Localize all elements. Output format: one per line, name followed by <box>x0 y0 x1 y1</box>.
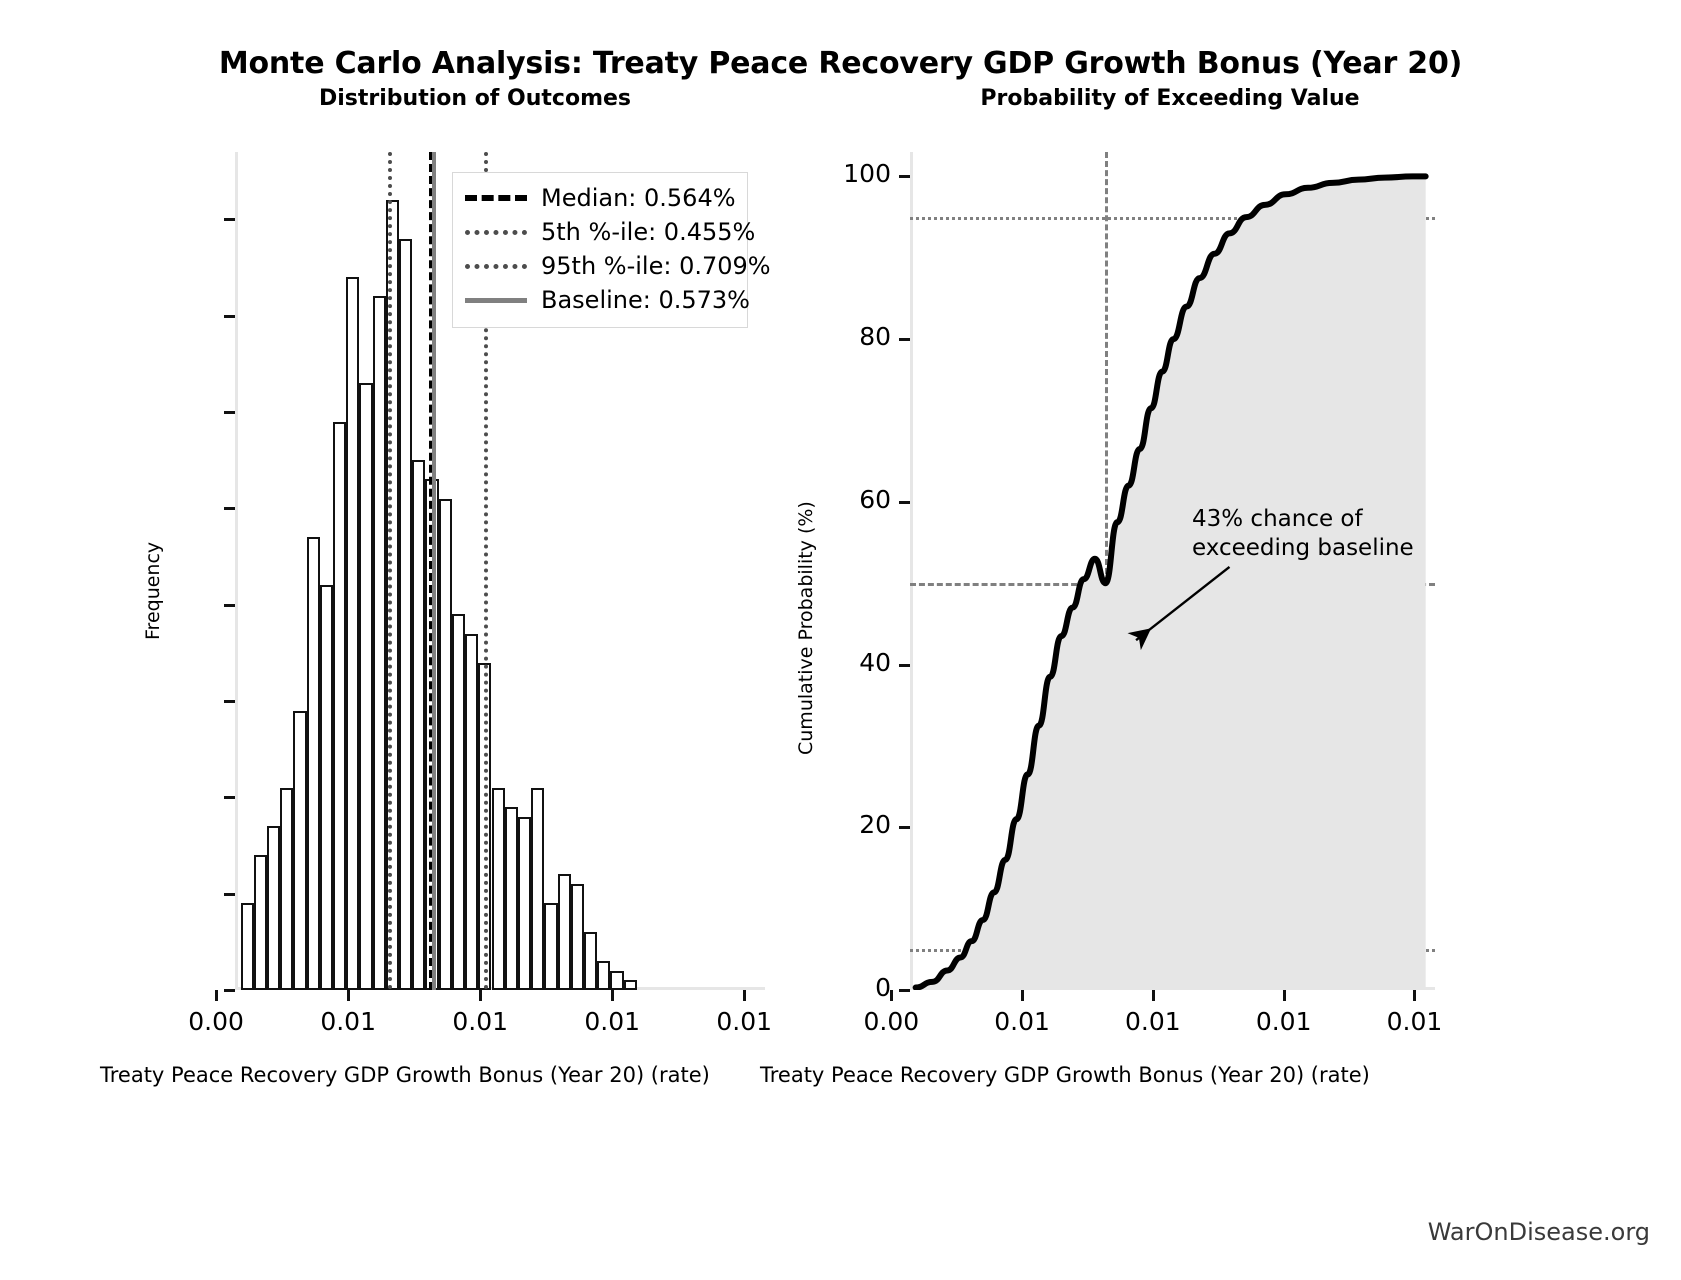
histogram-bar <box>558 874 571 990</box>
annotation-arrow-icon <box>910 152 1435 990</box>
legend-item-baseline[interactable]: Baseline: 0.573% <box>465 283 733 317</box>
histogram-y-axis-label: Frequency <box>142 542 164 640</box>
cdf-x-tick <box>1152 990 1155 1001</box>
histogram-bar <box>531 788 544 990</box>
cdf-y-tick <box>899 338 910 341</box>
histogram-bar <box>346 277 359 990</box>
cdf-fill-area <box>916 176 1426 990</box>
cdf-x-tick-label: 0.01 <box>1111 1007 1195 1036</box>
histogram-x-tick <box>347 990 350 1001</box>
cdf-x-tick <box>890 990 893 1001</box>
cdf-hline-5 <box>910 949 1435 952</box>
histogram-bar <box>518 817 531 990</box>
cdf-y-tick <box>899 826 910 829</box>
histogram-bar <box>399 239 412 990</box>
cdf-curve <box>910 152 1435 990</box>
histogram-x-tick-label: 0.01 <box>438 1007 522 1036</box>
histogram-bar <box>373 296 386 990</box>
histogram-y-tick <box>224 893 235 896</box>
histogram-bar <box>320 585 333 990</box>
histogram-bar <box>412 460 425 990</box>
histogram-bar <box>571 884 584 990</box>
histogram-bar <box>544 903 557 990</box>
cdf-annotation-line1: 43% chance of <box>1192 505 1414 534</box>
legend-item-median[interactable]: Median: 0.564% <box>465 181 733 215</box>
median-line-swatch-icon <box>465 195 527 201</box>
histogram-y-tick <box>224 989 235 992</box>
histogram-left-spine <box>235 152 238 990</box>
histogram-y-tick <box>224 411 235 414</box>
histogram-panel: Frequency 01020304050607080 0.000.010.01… <box>0 0 820 1280</box>
histogram-x-tick <box>479 990 482 1001</box>
histogram-bar <box>254 855 267 990</box>
cdf-x-axis-label: Treaty Peace Recovery GDP Growth Bonus (… <box>760 1063 1370 1087</box>
histogram-bar <box>465 634 478 990</box>
histogram-y-tick <box>224 700 235 703</box>
p95-line-swatch-icon <box>465 264 527 269</box>
cdf-y-tick <box>899 501 910 504</box>
histogram-legend[interactable]: Median: 0.564% 5th %-ile: 0.455% 95th %-… <box>452 172 748 328</box>
cdf-bottom-spine <box>910 987 1435 990</box>
histogram-bar <box>267 826 280 990</box>
histogram-bar <box>280 788 293 990</box>
histogram-bar <box>505 807 518 990</box>
histogram-bar <box>439 499 452 990</box>
histogram-x-tick-label: 0.01 <box>570 1007 654 1036</box>
histogram-bar <box>241 903 254 990</box>
legend-label-p5: 5th %-ile: 0.455% <box>541 218 755 246</box>
histogram-bar <box>359 383 372 990</box>
histogram-y-tick <box>224 796 235 799</box>
cdf-x-tick-label: 0.01 <box>980 1007 1064 1036</box>
cdf-x-tick-label: 0.01 <box>1372 1007 1456 1036</box>
histogram-x-tick <box>215 990 218 1001</box>
cdf-y-tick <box>899 989 910 992</box>
cdf-x-tick-label: 0.01 <box>1242 1007 1326 1036</box>
legend-label-p95: 95th %-ile: 0.709% <box>541 252 771 280</box>
histogram-x-tick-label: 0.00 <box>174 1007 258 1036</box>
cdf-x-tick <box>1283 990 1286 1001</box>
histogram-bar <box>624 980 637 990</box>
histogram-x-tick <box>611 990 614 1001</box>
histogram-y-tick <box>224 507 235 510</box>
histogram-y-tick <box>224 604 235 607</box>
histogram-bar <box>333 422 346 990</box>
histogram-bar <box>293 711 306 990</box>
histogram-bar <box>610 971 623 990</box>
legend-label-median: Median: 0.564% <box>541 184 736 212</box>
histogram-x-tick-label: 0.01 <box>306 1007 390 1036</box>
cdf-hline-50 <box>910 583 1435 586</box>
baseline-line-swatch-icon <box>465 298 527 303</box>
histogram-bar <box>492 788 505 990</box>
histogram-y-tick <box>224 218 235 221</box>
cdf-vline-baseline <box>1105 152 1108 990</box>
cdf-annotation-line2: exceeding baseline <box>1192 534 1414 563</box>
cdf-left-spine <box>910 152 913 990</box>
legend-label-baseline: Baseline: 0.573% <box>541 286 750 314</box>
cdf-line-path <box>916 176 1426 987</box>
cdf-hline-95 <box>910 217 1435 220</box>
cdf-y-tick <box>899 664 910 667</box>
cdf-x-tick-label: 0.00 <box>849 1007 933 1036</box>
histogram-bar <box>584 932 597 990</box>
histogram-x-axis-label: Treaty Peace Recovery GDP Growth Bonus (… <box>100 1063 710 1087</box>
cdf-y-tick <box>899 175 910 178</box>
histogram-bar <box>597 961 610 990</box>
cdf-x-tick <box>1021 990 1024 1001</box>
histogram-bar <box>307 537 320 990</box>
histogram-marker-baseline <box>432 152 436 990</box>
histogram-x-tick-label: 0.01 <box>702 1007 786 1036</box>
legend-item-p5[interactable]: 5th %-ile: 0.455% <box>465 215 733 249</box>
p5-line-swatch-icon <box>465 230 527 235</box>
cdf-x-tick <box>1413 990 1416 1001</box>
right-panel-title: Probability of Exceeding Value <box>850 86 1490 111</box>
histogram-x-tick <box>743 990 746 1001</box>
histogram-marker-5th-ile <box>388 152 392 990</box>
legend-item-p95[interactable]: 95th %-ile: 0.709% <box>465 249 733 283</box>
histogram-y-tick <box>224 315 235 318</box>
footer-watermark: WarOnDisease.org <box>1428 1218 1650 1246</box>
cdf-annotation: 43% chance of exceeding baseline <box>1192 505 1414 563</box>
histogram-bar <box>452 614 465 990</box>
cdf-plot-area <box>910 152 1435 990</box>
